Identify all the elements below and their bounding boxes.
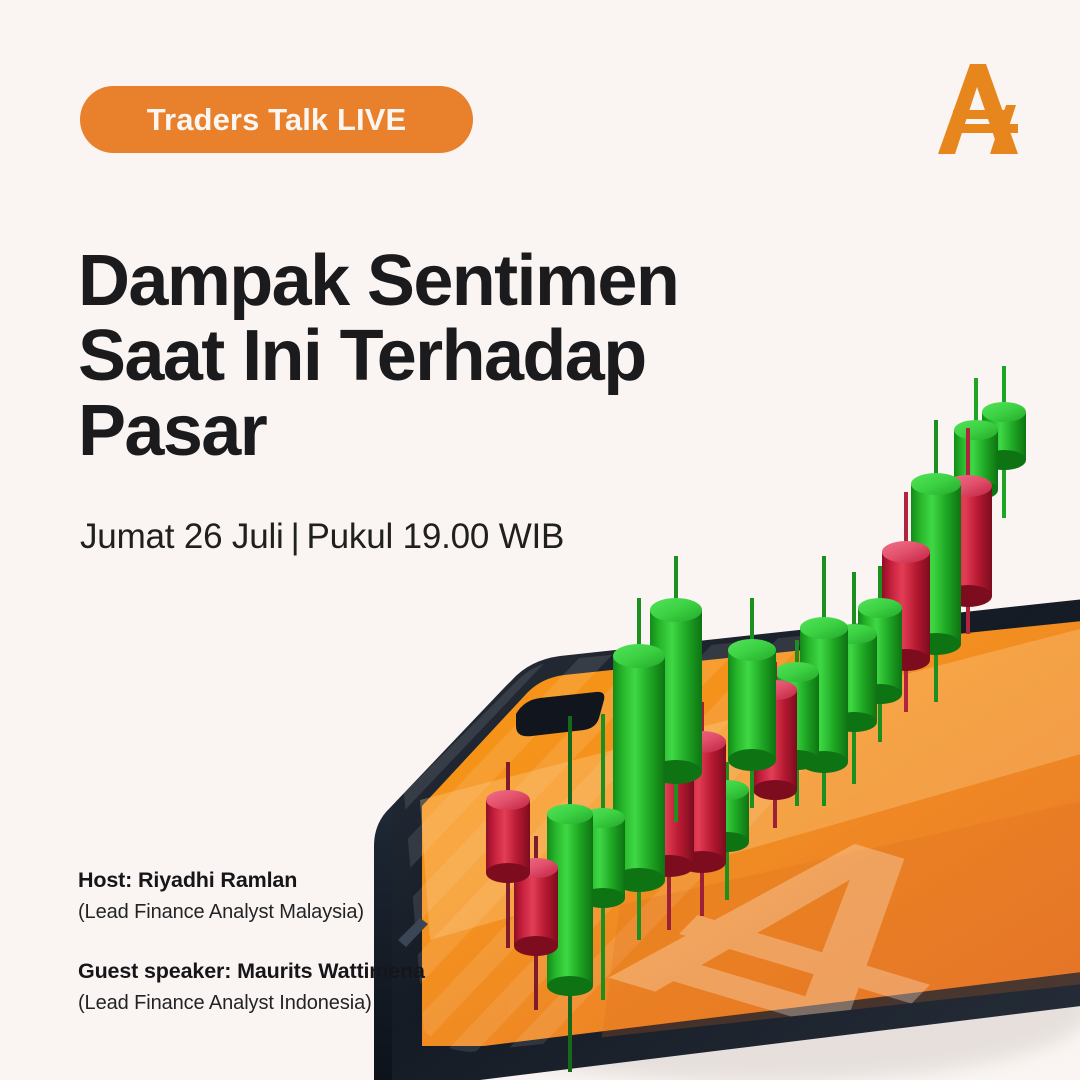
candle-up [982, 402, 1026, 470]
schedule-date: Jumat 26 Juli [80, 517, 284, 556]
candle-up [775, 662, 819, 770]
candle-down [753, 680, 797, 800]
schedule-line: Jumat 26 Juli|Pukul 19.00 WIB [80, 517, 564, 557]
candle-up [800, 617, 848, 773]
candle-up [705, 780, 749, 852]
brand-logo-icon [930, 58, 1030, 158]
live-badge[interactable]: Traders Talk LIVE [80, 86, 473, 153]
candle-up [911, 473, 961, 655]
live-badge-label: Traders Talk LIVE [147, 102, 407, 138]
candle-up [728, 639, 776, 771]
candle-up [954, 420, 998, 500]
guest-credit: Guest speaker: Maurits Wattimena (Lead F… [78, 957, 598, 1017]
headline-line-1: Dampak Sentimen [78, 244, 798, 319]
candle-up [613, 644, 665, 892]
screen-watermark-a [609, 817, 1047, 1062]
headline-line-2: Saat Ini Terhadap [78, 319, 798, 394]
candle-up [831, 624, 877, 732]
poster-canvas: Traders Talk LIVE Dampak Sentimen Saat I… [0, 0, 1080, 1080]
credits-block: Host: Riyadhi Ramlan (Lead Finance Analy… [78, 866, 598, 1048]
host-role: (Lead Finance Analyst Malaysia) [78, 898, 598, 926]
schedule-separator: | [284, 517, 307, 556]
candle-down [678, 731, 726, 873]
host-name: Host: Riyadhi Ramlan [78, 866, 598, 895]
page-title: Dampak Sentimen Saat Ini Terhadap Pasar [78, 244, 798, 469]
guest-name: Guest speaker: Maurits Wattimena [78, 957, 598, 986]
host-credit: Host: Riyadhi Ramlan (Lead Finance Analy… [78, 866, 598, 926]
candle-down [944, 475, 992, 607]
candle-down [882, 541, 930, 671]
candle-down [644, 699, 694, 877]
headline-line-3: Pasar [78, 394, 798, 469]
candle-up [650, 598, 702, 784]
guest-role: (Lead Finance Analyst Indonesia) [78, 989, 598, 1017]
schedule-time: Pukul 19.00 WIB [307, 517, 565, 556]
candle-up [858, 598, 902, 704]
